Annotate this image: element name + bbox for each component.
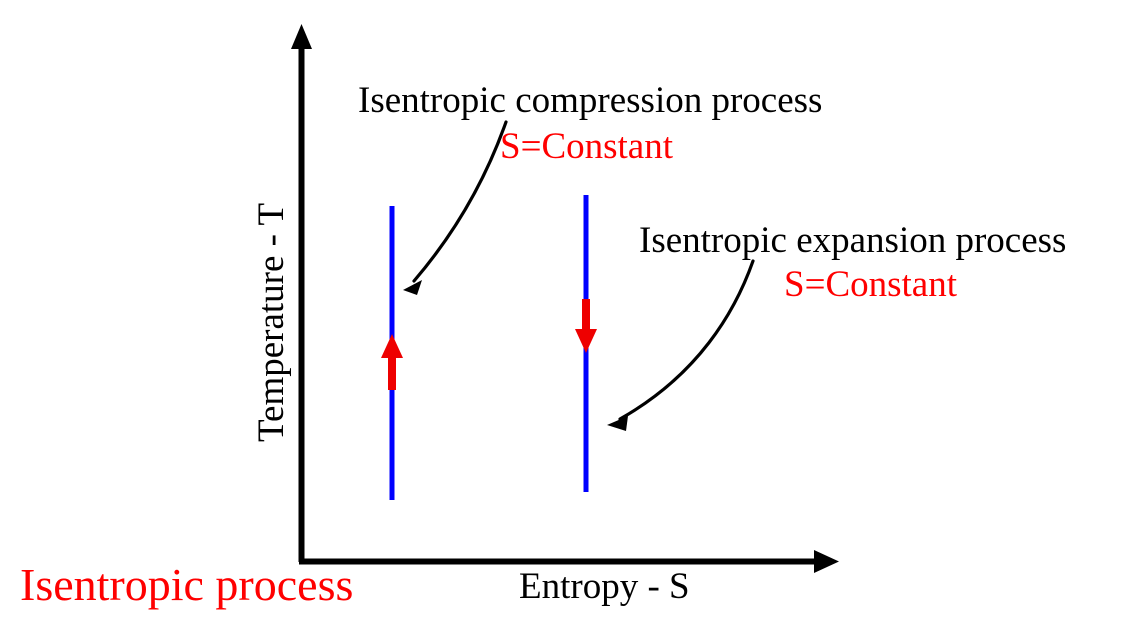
y-axis-arrowhead [291,24,312,49]
compression-leader-arrow [403,122,506,295]
isentropic-compression-line [381,206,403,500]
expansion-leader-curve [620,261,753,419]
expansion-leader-arrowhead [607,416,628,431]
compression-direction-arrowhead-up [381,334,403,358]
compression-leader-curve [414,122,506,281]
diagram-caption: Isentropic process [20,562,353,608]
x-axis-arrowhead [814,550,839,573]
annotation-expansion-constant-note: S=Constant [784,266,957,303]
expansion-leader-arrow [607,261,753,431]
y-axis-label: Temperature - T [253,203,290,442]
isentropic-expansion-line [575,195,597,492]
compression-leader-arrowhead [403,280,422,295]
isentropic-ts-diagram: Isentropic compression process S=Constan… [0,0,1134,638]
annotation-expansion-label: Isentropic expansion process [639,222,1066,259]
annotation-compression-label: Isentropic compression process [358,82,822,119]
x-axis-label: Entropy - S [519,568,690,605]
expansion-direction-arrowhead-down [575,329,597,353]
annotation-compression-constant-note: S=Constant [500,128,673,165]
